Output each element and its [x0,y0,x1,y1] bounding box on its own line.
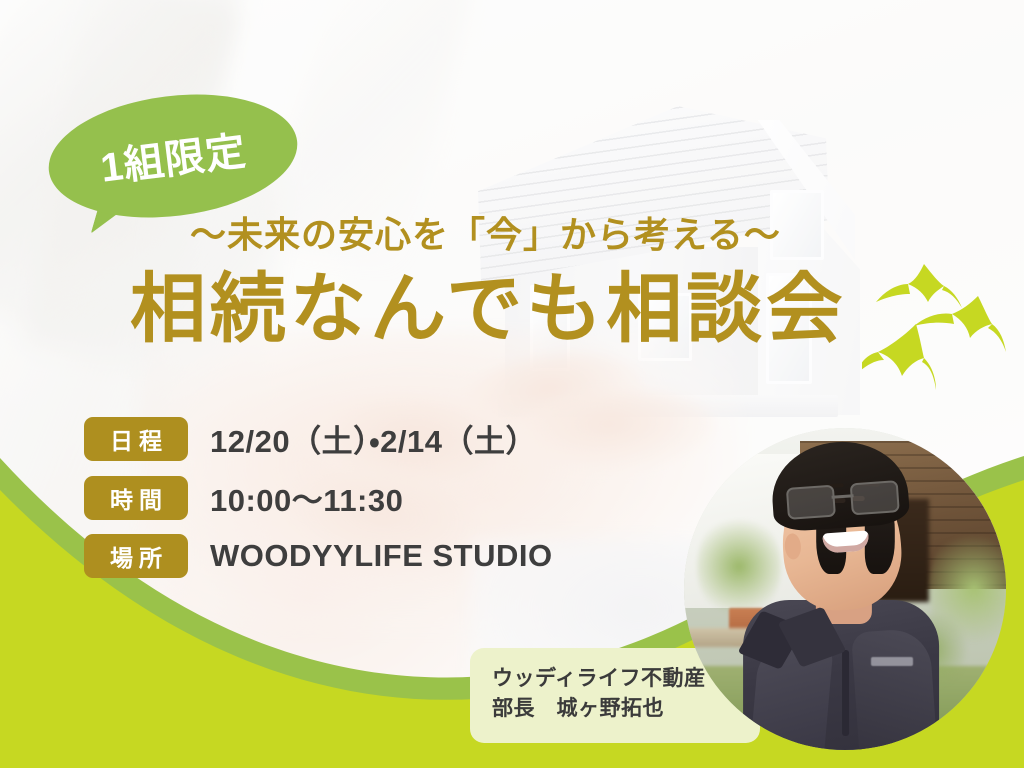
info-label-time: 時間 [84,476,188,520]
portrait-ear [784,533,802,560]
info-label-date: 日程 [84,417,188,461]
info-value-time: 10:00〜11:30 [210,475,403,520]
portrait-glasses [786,480,900,518]
limited-badge-label: 1組限定 [97,118,249,193]
info-row-place: 場所 WOODYYLIFE STUDIO [84,534,553,578]
portrait-person [684,480,1006,750]
poster-canvas: 1組限定 〜未来の安心を「今」から考える〜 相続なんでも相談会 日程 12/20… [0,0,1024,768]
info-row-date: 日程 12/20（土）・2/14（土） [84,416,553,461]
glasses-lens [786,485,836,520]
glasses-lens [850,480,900,515]
portrait-shoulder [851,627,937,750]
info-row-time: 時間 10:00〜11:30 [84,475,553,520]
portrait-shirt-placket [842,650,849,736]
birds-icon [862,250,1022,420]
event-info-list: 日程 12/20（土）・2/14（土） 時間 10:00〜11:30 場所 WO… [84,416,553,578]
poster-title: 相続なんでも相談会 [130,270,846,350]
portrait-shirt-logo [871,657,913,666]
info-label-place: 場所 [84,534,188,578]
info-value-place: WOODYYLIFE STUDIO [210,538,553,574]
staff-portrait [684,428,1006,750]
poster-subtitle: 〜未来の安心を「今」から考える〜 [190,206,781,258]
info-value-date: 12/20（土）・2/14（土） [210,416,537,461]
